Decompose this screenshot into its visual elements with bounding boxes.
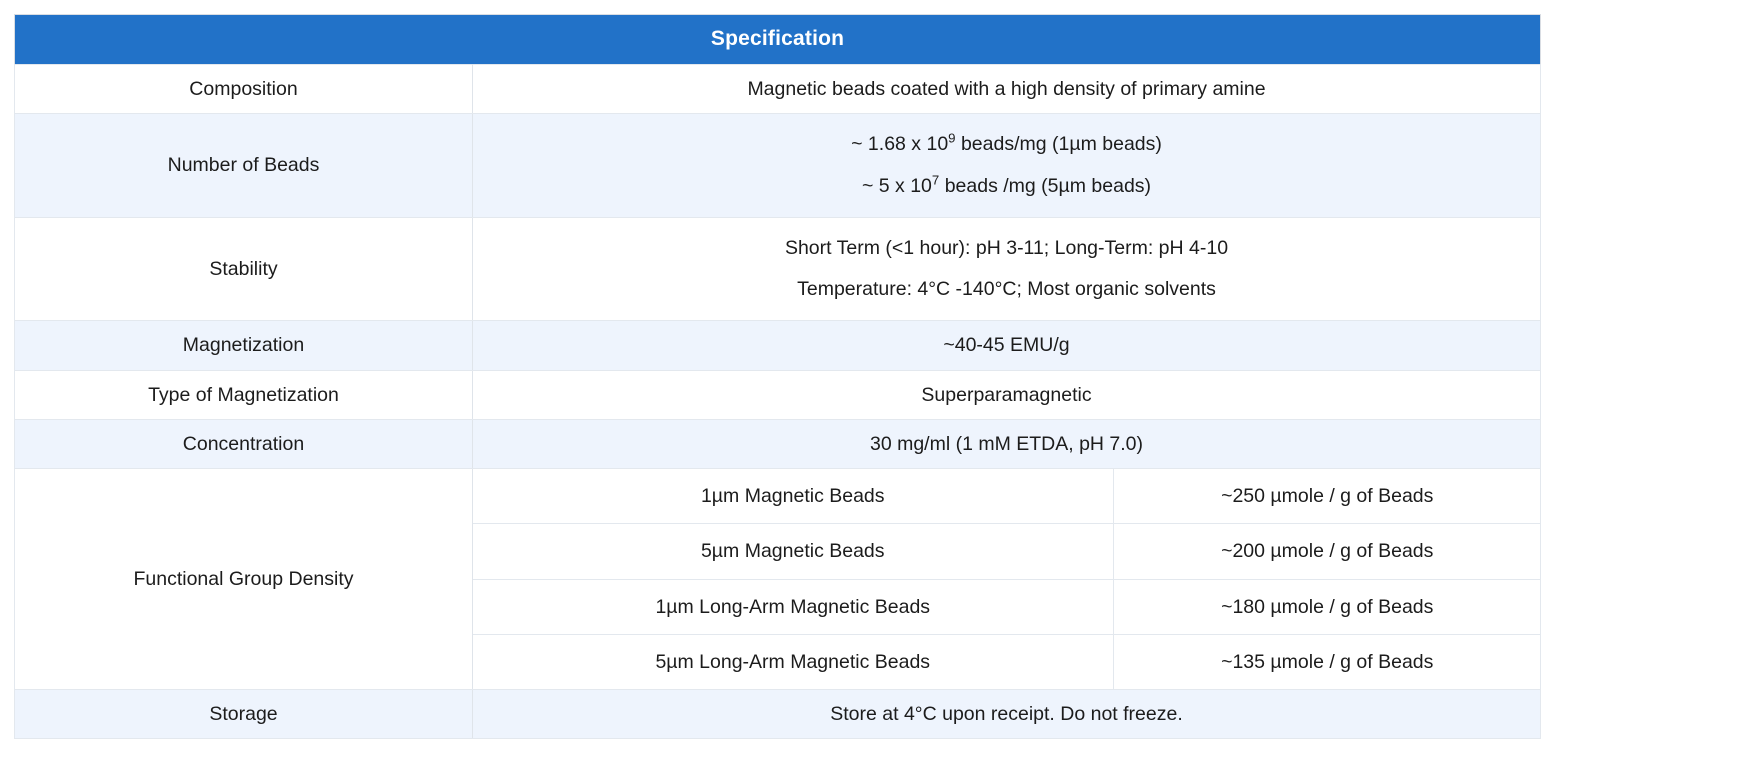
row-value-composition: Magnetic beads coated with a high densit… bbox=[473, 65, 1541, 114]
subtable-row: 5µm Long-Arm Magnetic Beads ~135 µmole /… bbox=[473, 634, 1541, 689]
beads-1um-exponent: 9 bbox=[948, 131, 955, 146]
beads-1um-prefix: ~ 1.68 x 10 bbox=[851, 133, 948, 155]
beads-5um-suffix: beads /mg (5µm beads) bbox=[939, 175, 1151, 197]
table-row-stability: Stability Short Term (<1 hour): pH 3-11;… bbox=[15, 217, 1541, 321]
table-header-row: Specification bbox=[15, 15, 1541, 65]
bead-type-density: ~135 µmole / g of Beads bbox=[1113, 634, 1541, 689]
table-row-composition: Composition Magnetic beads coated with a… bbox=[15, 65, 1541, 114]
row-value-concentration: 30 mg/ml (1 mM ETDA, pH 7.0) bbox=[473, 419, 1541, 468]
functional-group-density-subtable: 1µm Magnetic Beads ~250 µmole / g of Bea… bbox=[473, 469, 1541, 689]
table-row-storage: Storage Store at 4°C upon receipt. Do no… bbox=[15, 690, 1541, 739]
table-row-functional-group-density: Functional Group Density 1µm Magnetic Be… bbox=[15, 469, 1541, 690]
row-label-number-of-beads: Number of Beads bbox=[15, 114, 473, 218]
row-label-storage: Storage bbox=[15, 690, 473, 739]
row-label-functional-group-density: Functional Group Density bbox=[15, 469, 473, 690]
functional-group-density-subtable-wrapper: 1µm Magnetic Beads ~250 µmole / g of Bea… bbox=[473, 469, 1541, 690]
bead-type-name: 5µm Magnetic Beads bbox=[473, 524, 1113, 579]
bead-type-name: 1µm Magnetic Beads bbox=[473, 469, 1113, 524]
table-row-number-of-beads: Number of Beads ~ 1.68 x 109 beads/mg (1… bbox=[15, 114, 1541, 218]
row-label-stability: Stability bbox=[15, 217, 473, 321]
beads-5um-prefix: ~ 5 x 10 bbox=[862, 175, 932, 197]
row-label-composition: Composition bbox=[15, 65, 473, 114]
subtable-row: 1µm Long-Arm Magnetic Beads ~180 µmole /… bbox=[473, 579, 1541, 634]
specification-page: Specification Composition Magnetic beads… bbox=[0, 0, 1744, 758]
bead-type-density: ~250 µmole / g of Beads bbox=[1113, 469, 1541, 524]
stability-ph-line: Short Term (<1 hour): pH 3-11; Long-Term… bbox=[485, 228, 1528, 269]
subtable-row: 1µm Magnetic Beads ~250 µmole / g of Bea… bbox=[473, 469, 1541, 524]
row-value-storage: Store at 4°C upon receipt. Do not freeze… bbox=[473, 690, 1541, 739]
table-title: Specification bbox=[15, 15, 1541, 65]
bead-type-name: 5µm Long-Arm Magnetic Beads bbox=[473, 634, 1113, 689]
beads-5um-line: ~ 5 x 107 beads /mg (5µm beads) bbox=[485, 166, 1528, 207]
beads-1um-suffix: beads/mg (1µm beads) bbox=[956, 133, 1162, 155]
row-label-concentration: Concentration bbox=[15, 419, 473, 468]
specification-table: Specification Composition Magnetic beads… bbox=[14, 14, 1541, 739]
row-label-type-of-magnetization: Type of Magnetization bbox=[15, 370, 473, 419]
bead-type-density: ~180 µmole / g of Beads bbox=[1113, 579, 1541, 634]
table-row-concentration: Concentration 30 mg/ml (1 mM ETDA, pH 7.… bbox=[15, 419, 1541, 468]
table-row-magnetization: Magnetization ~40-45 EMU/g bbox=[15, 321, 1541, 370]
row-value-magnetization: ~40-45 EMU/g bbox=[473, 321, 1541, 370]
stability-temperature-line: Temperature: 4°C -140°C; Most organic so… bbox=[485, 269, 1528, 310]
table-row-type-of-magnetization: Type of Magnetization Superparamagnetic bbox=[15, 370, 1541, 419]
bead-type-density: ~200 µmole / g of Beads bbox=[1113, 524, 1541, 579]
bead-type-name: 1µm Long-Arm Magnetic Beads bbox=[473, 579, 1113, 634]
beads-1um-line: ~ 1.68 x 109 beads/mg (1µm beads) bbox=[485, 124, 1528, 165]
subtable-row: 5µm Magnetic Beads ~200 µmole / g of Bea… bbox=[473, 524, 1541, 579]
row-value-type-of-magnetization: Superparamagnetic bbox=[473, 370, 1541, 419]
row-value-number-of-beads: ~ 1.68 x 109 beads/mg (1µm beads) ~ 5 x … bbox=[473, 114, 1541, 218]
row-value-stability: Short Term (<1 hour): pH 3-11; Long-Term… bbox=[473, 217, 1541, 321]
row-label-magnetization: Magnetization bbox=[15, 321, 473, 370]
